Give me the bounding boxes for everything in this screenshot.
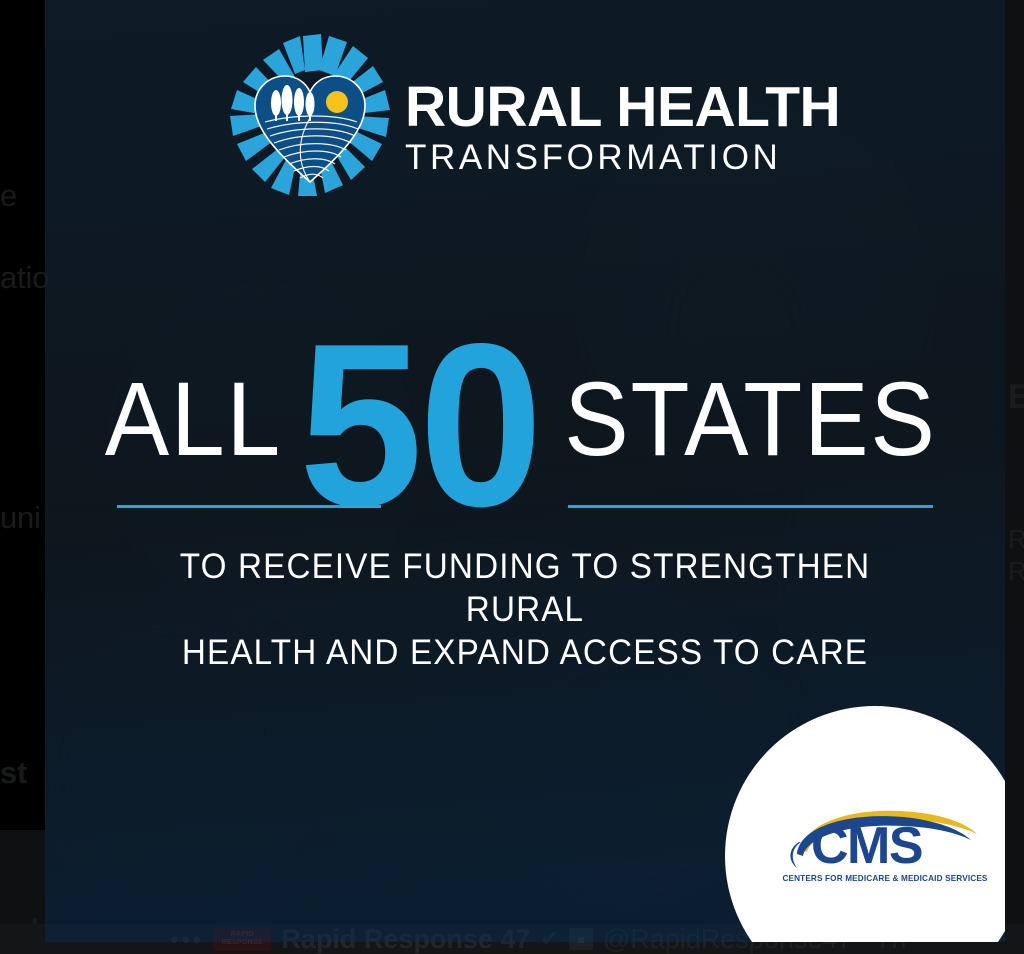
rural-health-transformation-logo: RURAL HEALTH TRANSFORMATION	[225, 30, 825, 205]
post-text-fragment: st	[0, 755, 27, 791]
headline: ALL 50 STATES	[45, 330, 1005, 510]
logo-wordmark: RURAL HEALTH TRANSFORMATION	[405, 78, 825, 178]
post-text-fragment: uni	[0, 500, 41, 536]
post-text-fragment-right: RU	[1008, 524, 1024, 555]
subheadline-line2: HEALTH AND EXPAND ACCESS TO CARE	[126, 631, 924, 674]
post-text-column-upper	[0, 0, 45, 742]
rural-health-heart-icon	[225, 30, 395, 200]
post-text-fragment-right: E	[1008, 378, 1024, 417]
sun-icon	[326, 91, 348, 113]
logo-wordmark-line2: TRANSFORMATION	[405, 138, 825, 178]
divider-rule-left	[117, 505, 381, 508]
headline-suffix: STATES	[564, 365, 936, 475]
post-text-fragment-right: R	[1008, 556, 1024, 587]
screenshot-root: e atio uni st ruh E RU R ••• RAPID RESPO…	[0, 0, 1024, 954]
logo-wordmark-line1: RURAL HEALTH	[405, 78, 825, 136]
subheadline-line1: TO RECEIVE FUNDING TO STRENGTHEN RURAL	[126, 545, 924, 631]
post-text-fragment: atio	[0, 260, 49, 296]
cms-tagline: CENTERS FOR MEDICARE & MEDICAID SERVICES	[777, 874, 993, 883]
rural-health-graphic-card[interactable]: RURAL HEALTH TRANSFORMATION ALL 50 STATE…	[45, 0, 1005, 942]
divider-rule-right	[568, 505, 933, 508]
headline-prefix: ALL	[105, 365, 282, 475]
cms-logo: CMS CENTERS FOR MEDICARE & MEDICAID SERV…	[763, 798, 993, 890]
headline-number: 50	[299, 336, 539, 516]
subheadline: TO RECEIVE FUNDING TO STRENGTHEN RURAL H…	[126, 545, 924, 674]
cms-wordmark: CMS	[811, 820, 922, 872]
post-text-fragment: e	[0, 178, 17, 214]
headline-divider-rules	[45, 505, 1005, 511]
